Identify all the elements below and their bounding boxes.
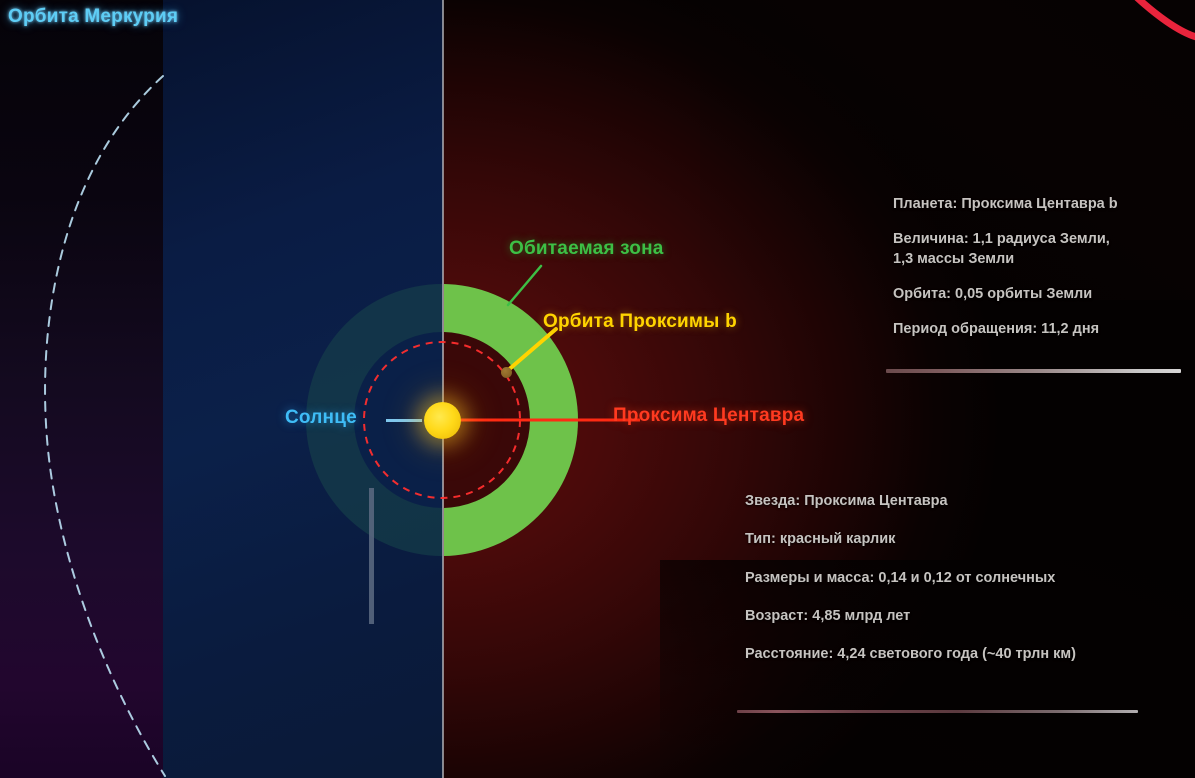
label-proxima-b-orbit: Орбита Проксимы b [543, 311, 737, 333]
label-sun: Солнце [285, 407, 357, 429]
star-info-line: Тип: красный карлик [745, 530, 1195, 549]
planet-info-line: Величина: 1,1 радиуса Земли, 1,3 массы З… [893, 230, 1193, 269]
label-habitable-zone: Обитаемая зона [509, 238, 664, 260]
star-panel-underline [737, 710, 1138, 713]
sun-leader-dash [386, 419, 422, 422]
star-info-line: Возраст: 4,85 млрд лет [745, 607, 1195, 626]
proxima-b-planet-dot [501, 367, 512, 378]
planet-info-panel: Планета: Проксима Центавра b Величина: 1… [893, 195, 1193, 355]
page-title: Орбита Меркурия [8, 6, 178, 28]
planet-info-line: Период обращения: 11,2 дня [893, 320, 1193, 339]
star-info-line: Размеры и масса: 0,14 и 0,12 от солнечны… [745, 569, 1195, 588]
star-info-line: Звезда: Проксима Центавра [745, 492, 1195, 511]
background-left-outer [0, 0, 163, 778]
scale-bar [369, 488, 374, 624]
star-info-line: Расстояние: 4,24 светового года (~40 трл… [745, 645, 1195, 664]
label-proxima-centauri: Проксима Центавра [613, 405, 804, 427]
sun-icon [424, 402, 461, 439]
planet-info-line: Орбита: 0,05 орбиты Земли [893, 285, 1193, 304]
star-info-panel: Звезда: Проксима Центавра Тип: красный к… [745, 492, 1195, 683]
infographic-canvas: Орбита Меркурия Солнце Обитаемая зона Ор… [0, 0, 1195, 778]
background-left-navy [163, 0, 443, 778]
planet-panel-underline [886, 369, 1181, 373]
planet-info-line: Планета: Проксима Центавра b [893, 195, 1193, 214]
vertical-divider [442, 0, 444, 778]
